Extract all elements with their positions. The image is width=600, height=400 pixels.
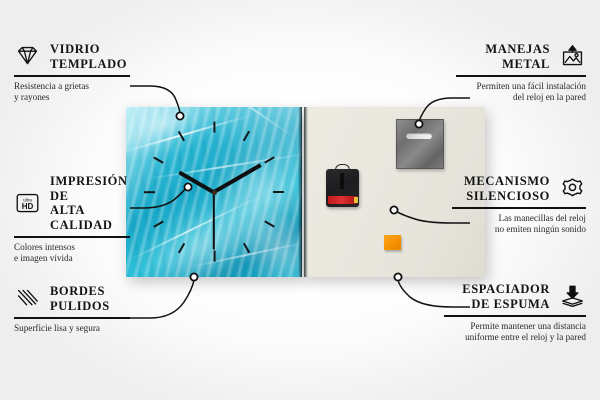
feature-header: BORDES PULIDOS [14,284,138,313]
desc-line1: Resistencia a grietas [14,81,134,93]
feature-description: Permiten una fácil instalación del reloj… [456,81,586,104]
hanger-loop [335,164,350,172]
feature-vidrio-templado[interactable]: VIDRIO TEMPLADO Resistencia a grietas y … [14,42,134,104]
panel-edge [298,107,302,277]
foam-spacer-pad [384,235,401,250]
feature-rule [14,317,130,319]
clock-hour-hand [178,170,215,194]
desc-line1: Colores intensos [14,242,138,254]
clock-tick [153,221,164,228]
feature-rule [14,75,130,77]
feature-title-line1: MANEJAS [485,42,550,57]
clock-tick [213,122,215,133]
feature-description: Colores intensos e imagen vívida [14,242,138,265]
hanger-slot [406,133,432,139]
feature-rule [452,207,586,209]
feature-title-line1: IMPRESIÓN DE [50,174,138,203]
feature-title-line1: BORDES [50,284,110,299]
feature-title-line2: METAL [485,57,550,72]
desc-line2: no emiten ningún sonido [452,224,586,236]
foam-spacer-icon [559,284,586,309]
clock-hub [212,190,217,195]
feature-mecanismo-silencioso[interactable]: MECANISMO SILENCIOSO Las manecillas del … [452,174,586,236]
clock-minute-hand [213,163,262,193]
desc-line1: Superficie lisa y segura [14,323,138,335]
feature-title-line1: MECANISMO [464,174,550,189]
feature-title-line2: ALTA CALIDAD [50,203,138,232]
feature-header: ESPACIADOR DE ESPUMA [444,282,586,311]
clock-dial [126,107,302,277]
clock-tick [265,221,276,228]
ultra-hd-icon: ultra HD [14,191,41,216]
feature-description: Las manecillas del reloj no emiten ningú… [452,213,586,236]
feature-description: Superficie lisa y segura [14,323,138,335]
feature-title-line1: ESPACIADOR [462,282,550,297]
feature-title-line2: TEMPLADO [50,57,127,72]
desc-line2: del reloj en la pared [456,92,586,104]
desc-line1: Permiten una fácil instalación [456,81,586,93]
feature-rule [456,75,586,77]
infographic-canvas: VIDRIO TEMPLADO Resistencia a grietas y … [0,0,600,400]
desc-line2: e imagen vívida [14,253,138,265]
feature-rule [14,236,130,238]
feature-rule [444,315,586,317]
svg-text:HD: HD [22,202,34,211]
clock-tick [153,156,164,163]
feature-impresion-alta-calidad[interactable]: ultra HD IMPRESIÓN DE ALTA CALIDAD Color… [14,174,138,265]
quartz-movement [326,169,359,207]
clock-tick [178,243,185,254]
battery [328,196,357,204]
desc-line2: uniforme entre el reloj y la pared [444,332,586,344]
metal-hanger-plate [396,119,444,169]
diamond-icon [14,44,41,69]
feature-header: MECANISMO SILENCIOSO [452,174,586,203]
product-image [126,107,485,277]
feature-title-line1: VIDRIO [50,42,127,57]
feature-espaciador-espuma[interactable]: ESPACIADOR DE ESPUMA Permite mantener un… [444,282,586,344]
feature-description: Permite mantener una distancia uniforme … [444,321,586,344]
clock-second-hand [213,192,215,250]
feature-title-line2: SILENCIOSO [464,189,550,204]
feature-header: ultra HD IMPRESIÓN DE ALTA CALIDAD [14,174,138,232]
feature-header: MANEJAS METAL [456,42,586,71]
connector-bordes [130,280,194,318]
movement-shaft [340,173,344,189]
clock-tick [273,191,284,193]
polished-edges-icon [14,286,41,311]
desc-line2: y rayones [14,92,134,104]
clock-tick [144,191,155,193]
desc-line1: Las manecillas del reloj [452,213,586,225]
feature-manejas-metal[interactable]: MANEJAS METAL Permiten una fácil instala… [456,42,586,104]
wall-hanging-frame-icon [559,44,586,69]
clock-tick [213,251,215,262]
clock-tick [243,131,250,142]
clock-tick [178,131,185,142]
feature-title-line2: PULIDOS [50,299,110,314]
feature-bordes-pulidos[interactable]: BORDES PULIDOS Superficie lisa y segura [14,284,138,334]
clock-front-panel [126,107,302,277]
feature-description: Resistencia a grietas y rayones [14,81,134,104]
gear-icon [559,176,586,201]
feature-title-line2: DE ESPUMA [462,297,550,312]
clock-tick [265,156,276,163]
desc-line1: Permite mantener una distancia [444,321,586,333]
feature-header: VIDRIO TEMPLADO [14,42,134,71]
clock-tick [243,243,250,254]
